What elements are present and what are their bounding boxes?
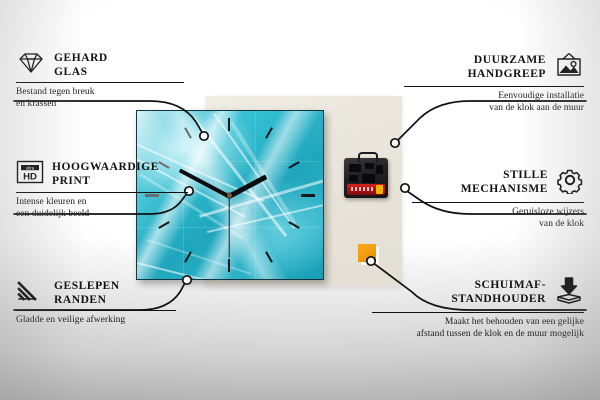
callout-title: DUURZAME (468, 54, 546, 68)
press-down-pad-icon (554, 276, 584, 309)
svg-text:HD: HD (23, 171, 37, 182)
callout-title-2: STANDHOUDER (451, 293, 546, 307)
callout-title-2: PRINT (52, 175, 159, 189)
callout-subtitle-2: van de klok (412, 219, 584, 231)
callout-gehard-glas: GEHARD GLAS Bestand tegen breuk en krass… (16, 52, 184, 110)
callout-subtitle: Bestand tegen breuk (16, 87, 184, 99)
callout-subtitle-2: een duidelijk beeld (16, 209, 188, 221)
callout-subtitle: Gladde en veilige afwerking (16, 315, 176, 327)
picture-frame-icon (554, 52, 584, 83)
callout-subtitle-2: afstand tussen de klok en de muur mogeli… (372, 329, 584, 341)
gear-icon (556, 166, 584, 199)
callout-rule (372, 312, 584, 313)
mechanism-hanger (358, 152, 378, 162)
callout-duurzame-handgreep: DUURZAME HANDGREEP Eenvoudige installati… (404, 52, 584, 114)
clock-mechanism (344, 158, 388, 198)
callout-stille-mechanisme: STILLE MECHANISME Geruisloze wijzers van… (412, 166, 584, 230)
callout-title: GESLEPEN (54, 280, 120, 294)
callout-rule (16, 310, 176, 311)
callout-subtitle: Eenvoudige installatie (404, 91, 584, 103)
callout-title: GEHARD (54, 52, 108, 66)
callout-rule (404, 86, 584, 87)
beveled-edges-icon (16, 280, 46, 307)
callout-title-2: GLAS (54, 66, 108, 80)
callout-rule (16, 192, 188, 193)
callout-title-2: RANDEN (54, 294, 120, 308)
infographic-canvas: GEHARD GLAS Bestand tegen breuk en krass… (0, 0, 600, 400)
svg-text:ultra: ultra (26, 165, 35, 170)
callout-subtitle: Geruisloze wijzers (412, 207, 584, 219)
callout-title-2: MECHANISME (461, 183, 548, 197)
callout-title: SCHUIMAF- (451, 279, 546, 293)
callout-geslepen-randen: GESLEPEN RANDEN Gladde en veilige afwerk… (16, 280, 176, 327)
battery (347, 184, 385, 195)
foam-spacer-pad (358, 244, 376, 262)
diamond-icon (16, 52, 46, 79)
callout-subtitle: Maakt het behouden van een gelijke (372, 317, 584, 329)
callout-rule (412, 202, 584, 203)
callout-title: STILLE (461, 169, 548, 183)
callout-title: HOOGWAARDIGE (52, 161, 159, 175)
callout-subtitle-2: van de klok aan de muur (404, 103, 584, 115)
callout-title-2: HANDGREEP (468, 68, 546, 82)
callout-schuimaf-standhouder: SCHUIMAF- STANDHOUDER Maakt het behouden… (372, 276, 584, 340)
connector-dot-mechanisme (401, 184, 409, 192)
callout-subtitle-2: en krassen (16, 99, 184, 111)
ultra-hd-icon: ultra HD (16, 160, 44, 189)
callout-rule (16, 82, 184, 83)
callout-subtitle: Intense kleuren en (16, 197, 188, 209)
callout-hoogwaardige-print: ultra HD HOOGWAARDIGE PRINT Intense kleu… (16, 160, 188, 220)
